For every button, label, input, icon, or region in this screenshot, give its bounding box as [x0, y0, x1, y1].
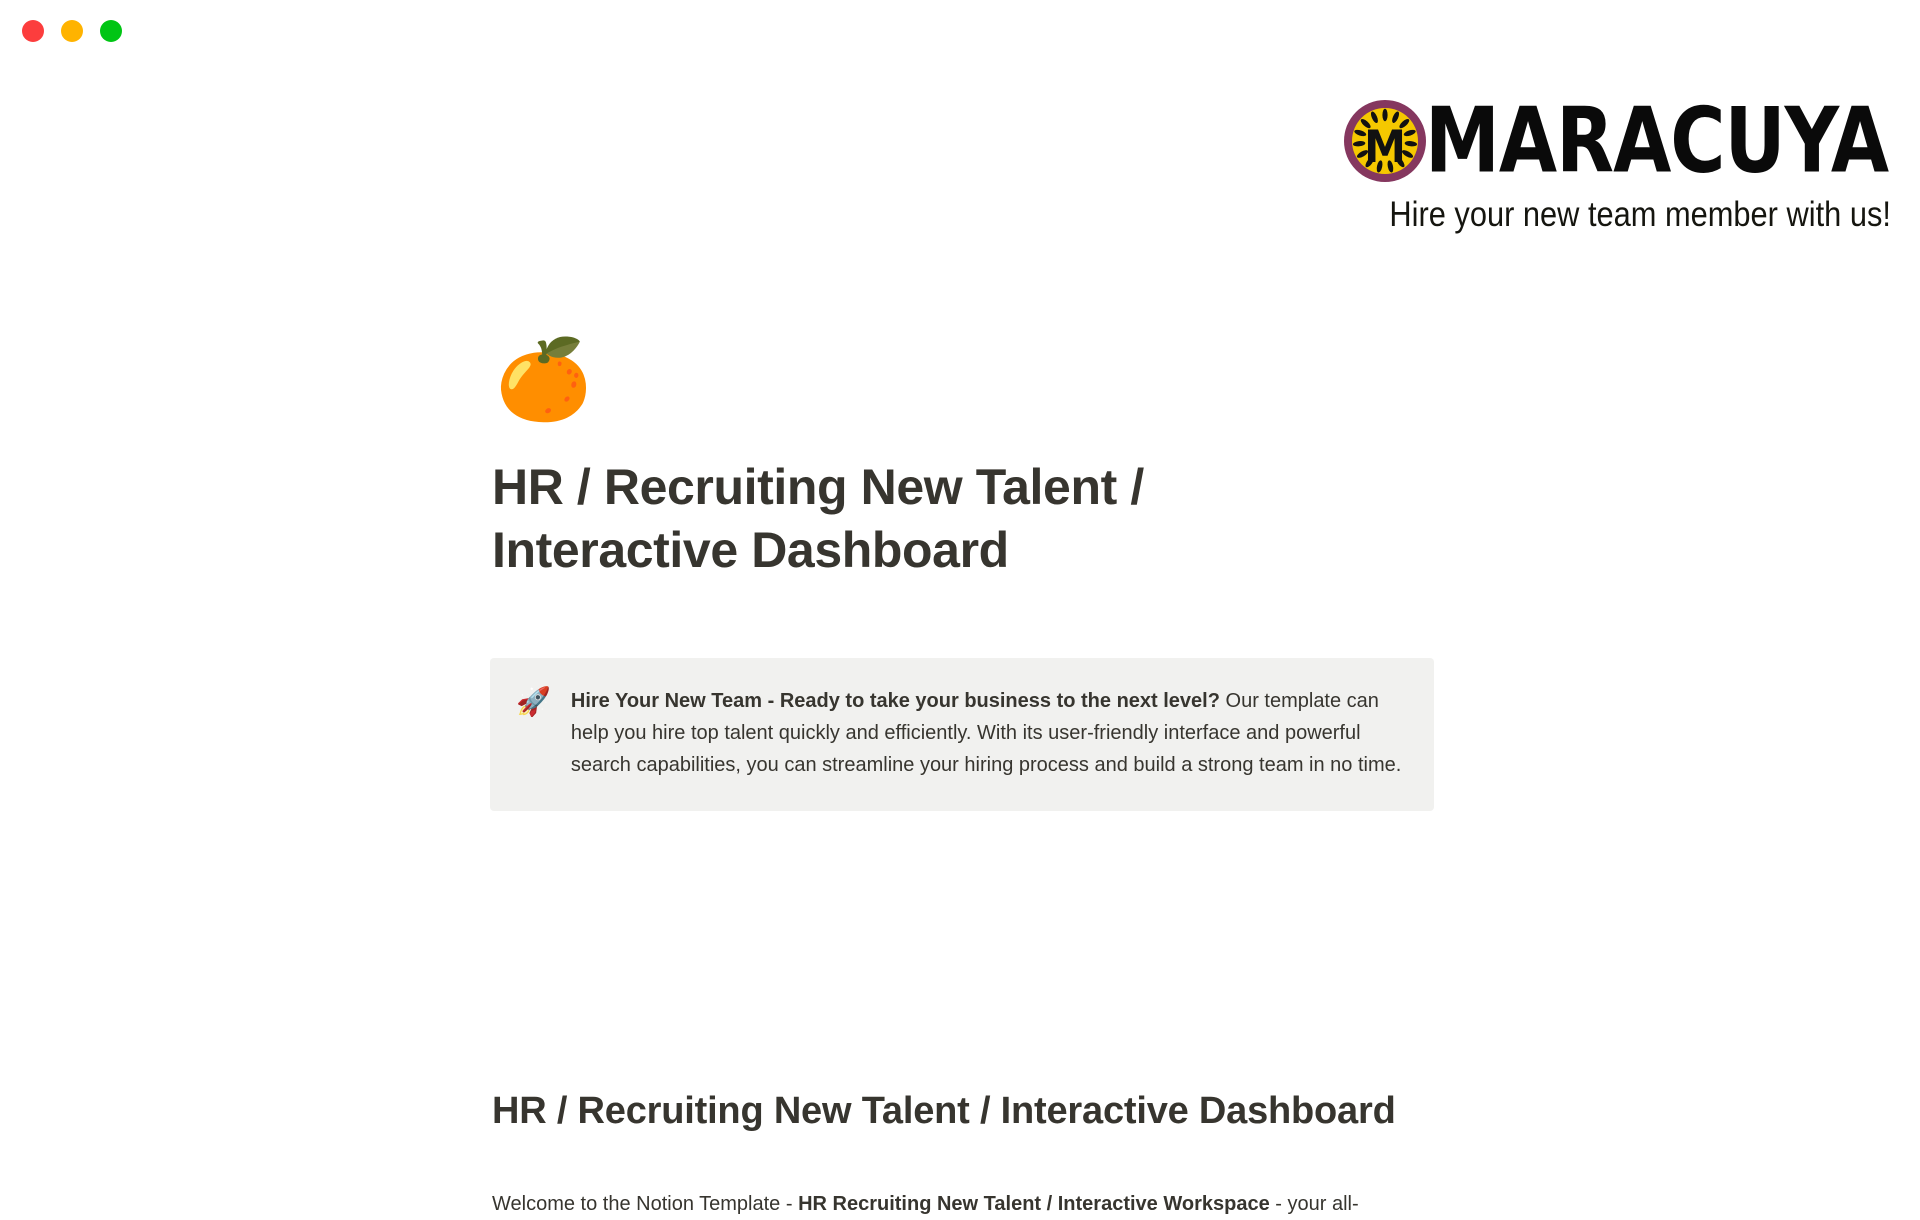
- traffic-light-group: [22, 20, 122, 42]
- rocket-emoji: 🚀: [516, 685, 551, 719]
- section-paragraph: Welcome to the Notion Template - HR Recr…: [492, 1188, 1436, 1220]
- window-title-bar: [0, 0, 1920, 62]
- brand-tagline: Hire your new team member with us!: [1389, 195, 1891, 235]
- callout-text: Hire Your New Team - Ready to take your …: [571, 685, 1404, 781]
- page-header-block: 🍊 HR / Recruiting New Talent / Interacti…: [492, 340, 1436, 582]
- brand-lockup: M MARACUYA: [1343, 95, 1893, 187]
- minimize-window-button[interactable]: [61, 20, 83, 42]
- maximize-window-button[interactable]: [100, 20, 122, 42]
- svg-text:M: M: [1364, 122, 1406, 173]
- callout-lead: Hire Your New Team - Ready to take your …: [571, 690, 1220, 712]
- page-root: M MARACUYA Hire your new team member wit…: [0, 0, 1920, 1200]
- section-paragraph-bold: HR Recruiting New Talent / Interactive W…: [798, 1193, 1270, 1215]
- section-paragraph-after: - your all-: [1270, 1193, 1359, 1215]
- brand-wordmark: MARACUYA: [1425, 96, 1888, 186]
- section-heading: HR / Recruiting New Talent / Interactive…: [492, 1087, 1492, 1136]
- maracuya-passionfruit-badge-icon: M: [1343, 99, 1427, 183]
- section-paragraph-before: Welcome to the Notion Template -: [492, 1193, 798, 1215]
- tangerine-emoji: 🍊: [495, 340, 1436, 432]
- page-title: HR / Recruiting New Talent / Interactive…: [492, 456, 1192, 582]
- brand-header: M MARACUYA Hire your new team member wit…: [1133, 95, 1893, 235]
- close-window-button[interactable]: [22, 20, 44, 42]
- callout-block: 🚀 Hire Your New Team - Ready to take you…: [490, 658, 1434, 811]
